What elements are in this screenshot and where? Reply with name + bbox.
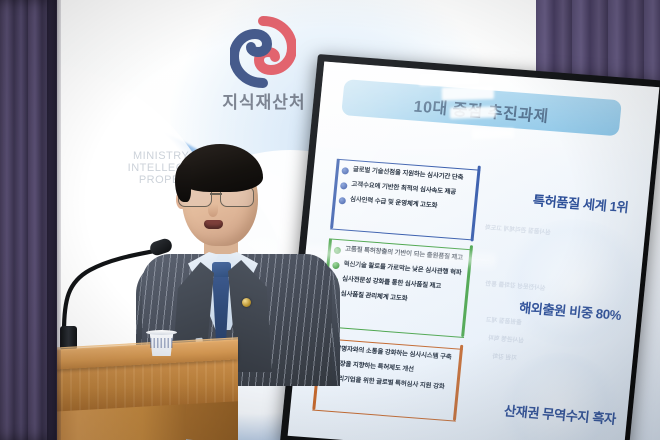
ceiling-light-glare [419, 72, 479, 86]
microphone-gooseneck [56, 248, 166, 332]
taegeuk-emblem [230, 16, 296, 88]
lapel-pin-icon [242, 298, 251, 307]
slide-bullet-text: 심사품질 관리체계 고도화 [340, 290, 408, 303]
screen-reflection-text: 출원품질 제고 [485, 315, 522, 327]
mouth [204, 220, 223, 229]
slide-goal-patent-quality: 특허품질 세계 1위 [507, 188, 654, 218]
ceiling-light-glare [442, 86, 494, 100]
group-frame-green-bottom [320, 326, 464, 338]
bullet-dot-icon [340, 182, 348, 190]
group-frame-blue-bottom [330, 228, 474, 240]
screen-reflection-text: 지원 강화 [492, 351, 517, 362]
slide-bullet-text: 글로벌 기술선점을 지원하는 심사기간 단축 [352, 166, 463, 182]
monitor-screen: 10대 중점 추진과제 글로벌 기술선점을 지원하는 심사기간 단축 [288, 62, 660, 440]
necktie-knot [212, 262, 231, 277]
ceiling-light-glare [450, 106, 496, 118]
ceiling-light-glare [472, 128, 514, 139]
slide-bullet-text: 심사전문성 강화를 통한 심사품질 제고 [342, 275, 442, 291]
curtain-left-edge-shadow [47, 0, 61, 440]
slide-group-support: 발명자와의 소통을 강화하는 심사시스템 구축 현장을 지향하는 특허제도 개선… [320, 344, 474, 400]
screen-reflection-text: 심사관행 혁파 [488, 333, 525, 345]
hair-sideburn [175, 164, 191, 202]
paper-cup-pattern [150, 338, 173, 348]
slide-bullet-text: 고객수요에 기반한 최적의 심사속도 제공 [351, 181, 456, 197]
press-briefing-photo: 지식재산처 MINISTRY OF INTELLECTUAL PROPERTY … [0, 0, 660, 440]
eyeglass-bridge [210, 193, 222, 195]
slide-group-speed: 글로벌 기술선점을 지원하는 심사기간 단축 고객수요에 기반한 최적의 심사속… [338, 165, 492, 221]
paper-cup-rim [146, 330, 177, 335]
slide-bullet-text: 현장을 지향하는 특허제도 개선 [333, 360, 414, 374]
slide-bullet-text: 우리기업을 위한 글로벌 특허심사 지원 강화 [332, 375, 445, 392]
group-frame-orange-bottom [312, 410, 456, 422]
bullet-dot-icon [338, 197, 346, 205]
bullet-dot-icon [341, 167, 349, 175]
slide-bullet-text: 심사인력 수급 및 운영체계 고도화 [350, 196, 438, 211]
